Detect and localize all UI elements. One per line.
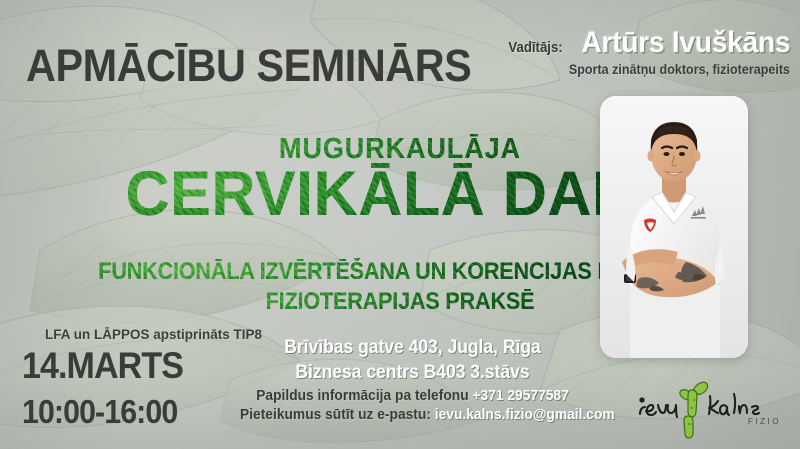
email-label: Pieteikumus sūtīt uz e-pastu: [240,406,431,423]
presenter-portrait [600,96,748,358]
seminar-poster: APMĀCĪBU SEMINĀRS Vadītājs:Artūrs Ivuškā… [0,0,800,449]
address-line-1: Brīvības gatve 403, Jugla, Rīga [240,337,585,359]
event-time: 10:00-16:00 [22,393,177,431]
phone-row: Papildus informācija pa telefonu +371 29… [240,387,585,404]
event-date: 14.MARTS [22,345,183,387]
presenter-subtitle: Sporta zinātņu doktors, fizioterapeits [483,62,790,77]
sprout-icon [680,382,708,438]
address-line-2: Biznesa centrs B403 3.stāvs [240,362,585,384]
page-title: APMĀCĪBU SEMINĀRS [26,40,471,92]
presenter-name: Artūrs Ivuškāns [581,26,790,60]
presenter-label: Vadītājs: [508,39,562,56]
email-value[interactable]: ievu.kalns.fizio@gmail.com [435,406,615,423]
presenter-block: Vadītājs:Artūrs Ivuškāns Sporta zinātņu … [460,26,790,77]
phone-value[interactable]: +371 29577587 [472,387,568,404]
phone-label: Papildus informācija pa telefonu [256,387,468,404]
email-row: Pieteikumus sūtīt uz e-pastu: ievu.kalns… [240,406,585,423]
company-logo[interactable]: FIZIO ievu kalns [630,378,790,440]
logo-tagline: FIZIO [748,417,781,426]
contact-block: Brīvības gatve 403, Jugla, Rīga Biznesa … [225,337,600,425]
